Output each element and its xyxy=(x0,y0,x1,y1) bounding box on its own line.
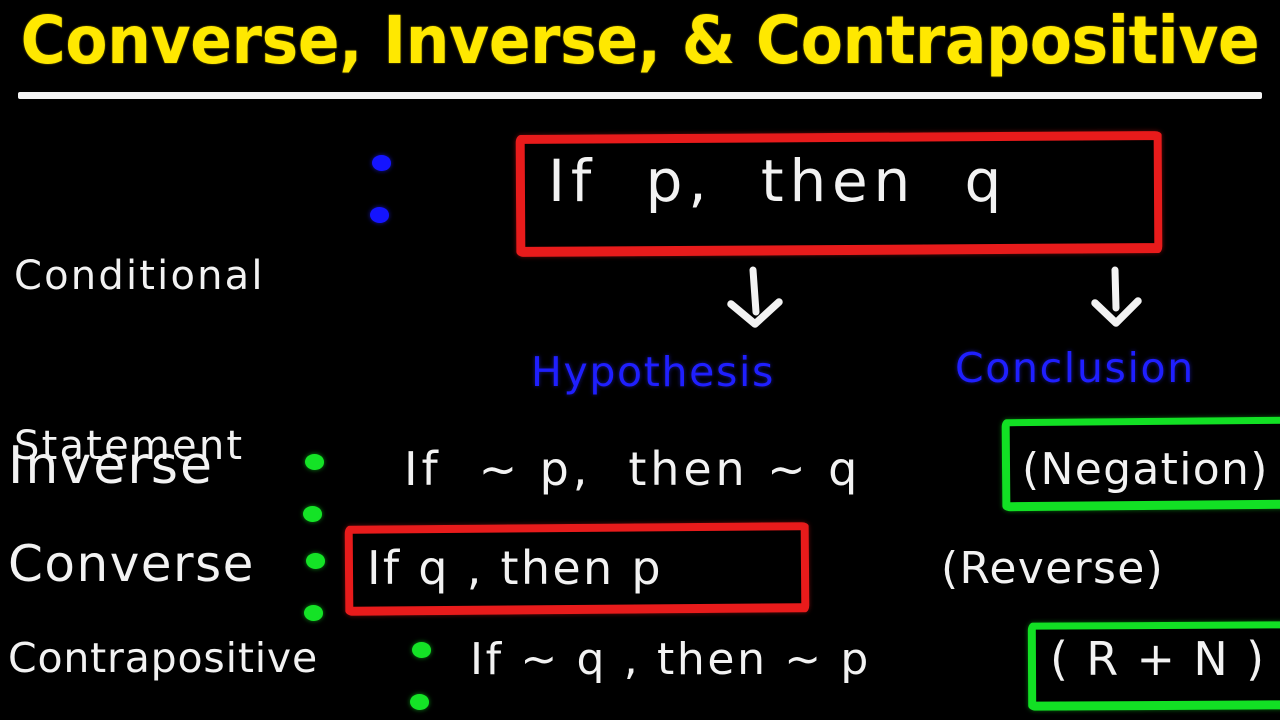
contrapositive-note-text: ( R + N ) xyxy=(1050,636,1266,682)
hypothesis-label: Hypothesis xyxy=(531,348,775,396)
lesson-board: Converse, Inverse, & Contrapositive Cond… xyxy=(0,0,1280,720)
contrapositive-statement-text: If ~ q , then ~ p xyxy=(470,638,871,682)
converse-statement-text: If q , then p xyxy=(367,545,663,591)
colon-dot-top xyxy=(305,454,324,470)
title-underline-rule xyxy=(18,92,1262,99)
page-title: Converse, Inverse, & Contrapositive xyxy=(21,6,1260,75)
contrapositive-label: Contrapositive xyxy=(8,638,318,679)
colon-dot-bottom xyxy=(303,506,322,522)
row-inverse: Inverse If ~ p, then ~ q (Negation) xyxy=(0,432,1280,522)
converse-label: Converse xyxy=(8,539,255,589)
down-arrow-icon-hypothesis xyxy=(720,268,792,340)
down-arrow-icon-conclusion xyxy=(1085,268,1151,334)
conditional-statement-text: If p, then q xyxy=(548,152,1007,210)
row-converse: Converse If q , then p (Reverse) xyxy=(0,533,1280,623)
colon-dot-bottom xyxy=(370,207,389,223)
row-contrapositive: Contrapositive If ~ q , then ~ p ( R + N… xyxy=(0,628,1280,718)
colon-dot-bottom xyxy=(304,605,323,621)
colon-dot-top xyxy=(306,553,325,569)
conditional-label-line1: Conditional xyxy=(14,248,265,305)
inverse-label: Inverse xyxy=(8,440,214,492)
inverse-statement-text: If ~ p, then ~ q xyxy=(404,446,861,492)
conclusion-label: Conclusion xyxy=(955,344,1195,392)
colon-dot-bottom xyxy=(410,694,429,710)
title-bar: Converse, Inverse, & Contrapositive xyxy=(0,0,1280,100)
converse-note-text: (Reverse) xyxy=(941,547,1164,591)
colon-dot-top xyxy=(412,642,431,658)
inverse-note-text: (Negation) xyxy=(1022,448,1269,492)
colon-dot-top xyxy=(372,155,391,171)
